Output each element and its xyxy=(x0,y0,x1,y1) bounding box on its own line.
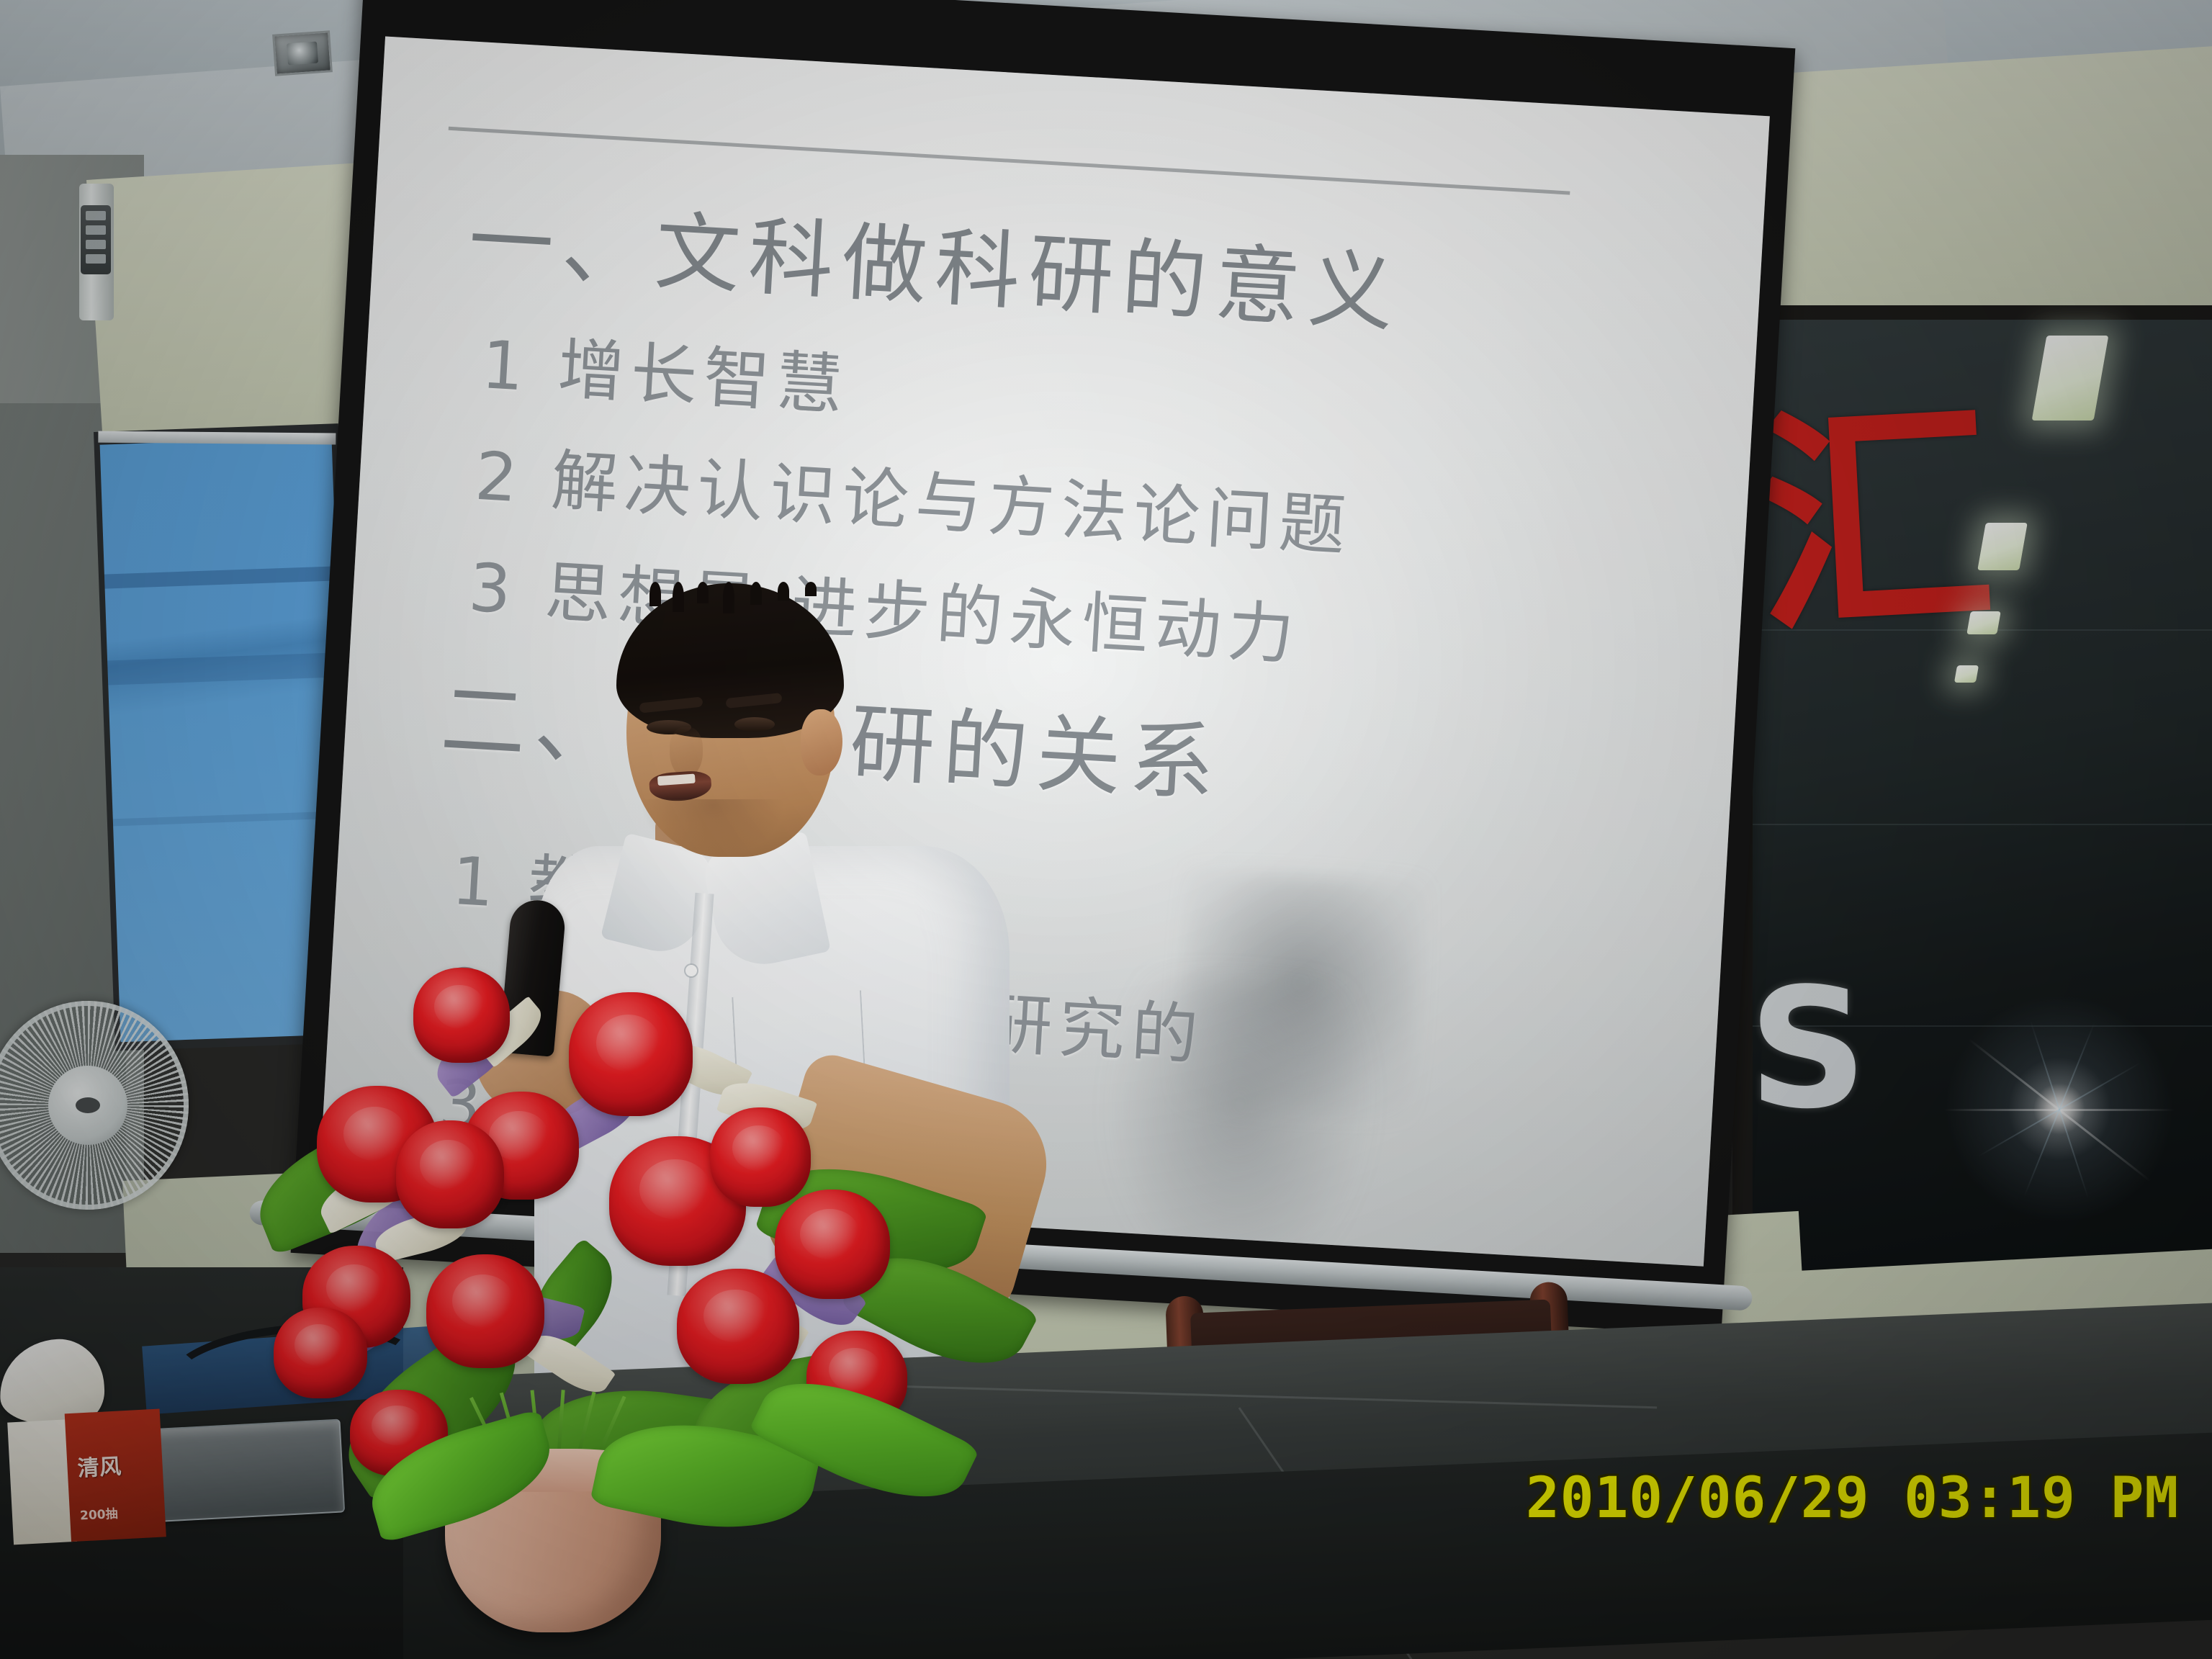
speaker-shadow-lower xyxy=(1100,973,1376,1267)
reflected-tube-light-icon xyxy=(1954,665,1979,683)
camera-timestamp: 2010/06/29 03:19 PM xyxy=(1526,1466,2179,1531)
reflected-tube-light-icon xyxy=(1966,611,2001,634)
tissue-box: 清风 200抽 xyxy=(6,1401,165,1545)
rose xyxy=(274,1308,367,1398)
fan-hub xyxy=(48,1066,127,1145)
tissue-count-label: 200抽 xyxy=(79,1503,118,1524)
blind-rail xyxy=(98,431,336,445)
nose xyxy=(670,727,703,778)
reflected-tube-light-icon xyxy=(2032,336,2109,421)
rose xyxy=(396,1120,504,1228)
flower-bouquet xyxy=(259,958,986,1548)
pedestal-fan xyxy=(0,1001,189,1210)
rose xyxy=(413,968,510,1063)
ear xyxy=(801,709,842,775)
glass-logo-decal: 汇 xyxy=(1750,422,1997,624)
rose xyxy=(569,992,693,1116)
rose xyxy=(775,1190,890,1299)
rose xyxy=(426,1254,544,1368)
glass-partition: 汇 S xyxy=(1753,320,2212,1270)
rose xyxy=(677,1269,799,1384)
rose xyxy=(710,1107,811,1207)
ceiling-downlight-icon xyxy=(272,30,333,76)
reflected-tube-light-icon xyxy=(1977,523,2028,570)
fan-control-buttons[interactable] xyxy=(81,205,111,274)
tissue-brand-label: 清风 xyxy=(76,1447,157,1483)
glass-letter-decal: S xyxy=(1748,953,1868,1146)
photograph-scene: 汇 S xyxy=(0,0,2212,1659)
glass-partition-frame: 汇 S xyxy=(1732,305,2212,1306)
